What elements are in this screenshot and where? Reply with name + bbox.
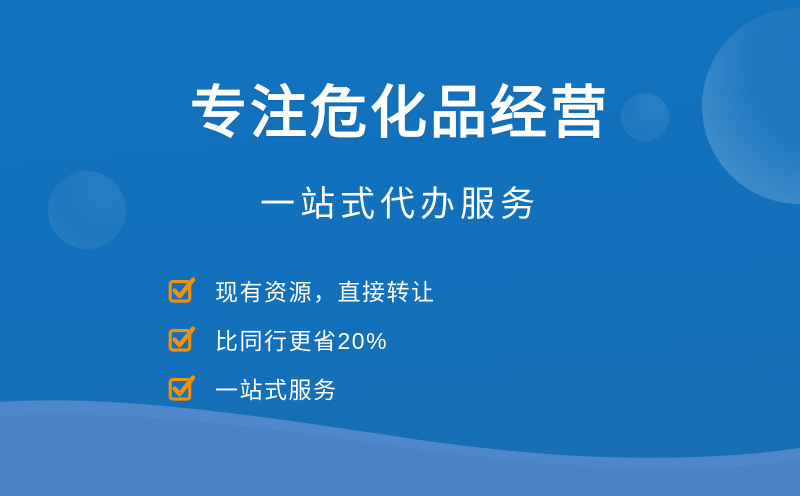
banner-content: 专注危化品经营 一站式代办服务 现有资源，直接转让 (0, 0, 800, 496)
feature-list: 现有资源，直接转让 比同行更省20% 一站式 (168, 275, 436, 403)
check-square-icon (168, 326, 195, 353)
promo-banner: 专注危化品经营 一站式代办服务 现有资源，直接转让 (0, 0, 800, 496)
list-item: 一站式服务 (168, 373, 436, 403)
list-item-label: 比同行更省20% (215, 322, 388, 356)
list-item: 比同行更省20% (168, 324, 436, 354)
list-item-label: 一站式服务 (215, 371, 338, 405)
check-square-icon (168, 277, 195, 304)
list-item: 现有资源，直接转让 (168, 275, 436, 305)
list-item-label: 现有资源，直接转让 (215, 273, 436, 307)
page-title: 专注危化品经营 (0, 84, 800, 144)
page-subtitle: 一站式代办服务 (0, 185, 800, 225)
check-square-icon (168, 375, 195, 402)
